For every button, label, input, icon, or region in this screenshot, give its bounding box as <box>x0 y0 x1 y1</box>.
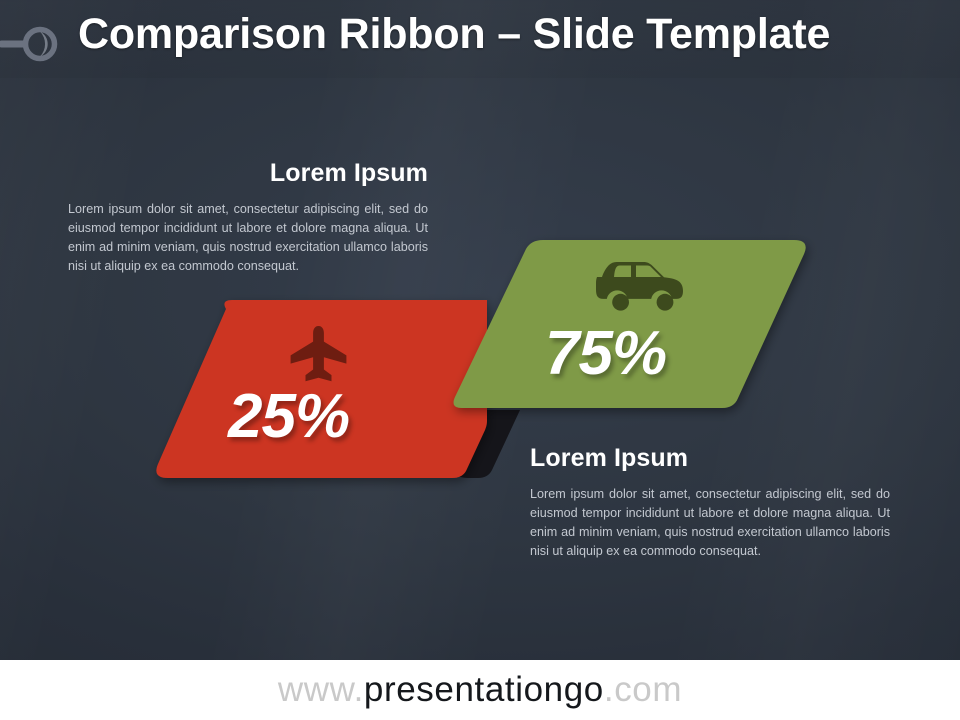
ring-loop-icon <box>0 24 78 64</box>
text-block-bottom: Lorem Ipsum Lorem ipsum dolor sit amet, … <box>530 445 890 561</box>
text-block-top: Lorem Ipsum Lorem ipsum dolor sit amet, … <box>68 160 428 276</box>
page-title: Comparison Ribbon – Slide Template <box>78 10 938 59</box>
text-block-top-heading: Lorem Ipsum <box>68 160 428 188</box>
text-block-bottom-heading: Lorem Ipsum <box>530 445 890 473</box>
footer-url-www: www. <box>278 670 364 709</box>
footer-url-name: presentationgo <box>364 670 604 709</box>
text-block-top-body: Lorem ipsum dolor sit amet, consectetur … <box>68 200 428 277</box>
comparison-ribbon-graphic <box>0 0 960 720</box>
text-block-bottom-body: Lorem ipsum dolor sit amet, consectetur … <box>530 485 890 562</box>
footer-url-tld: .com <box>604 670 682 709</box>
slide-canvas: Comparison Ribbon – Slide Template Lorem… <box>0 0 960 720</box>
footer-band: www.presentationgo.com <box>0 660 960 720</box>
ribbon-green-value: 75% <box>545 318 666 389</box>
footer-url[interactable]: www.presentationgo.com <box>278 670 682 710</box>
ribbon-red-value: 25% <box>228 381 349 452</box>
